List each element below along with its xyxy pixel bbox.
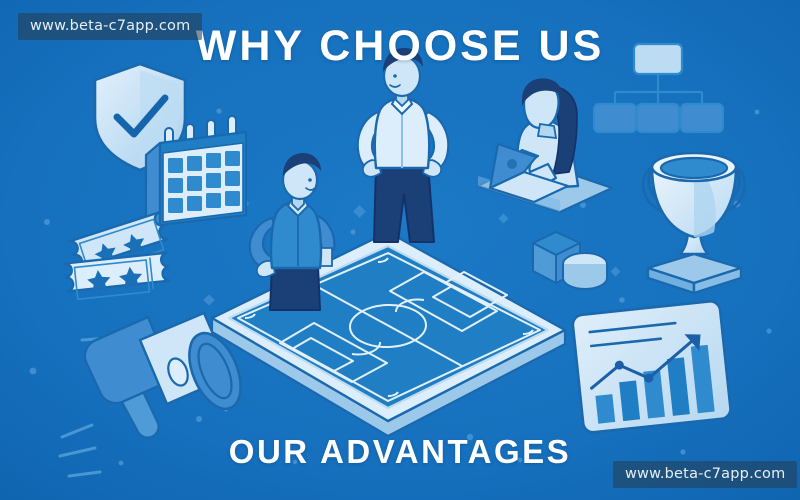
box-and-puck-icon: [533, 232, 607, 289]
trophy-icon: [643, 153, 745, 293]
poster-canvas: WHY CHOOSE US OUR ADVANTAGES www.beta-c7…: [0, 0, 800, 500]
woman-laptop-figure: [478, 78, 612, 212]
watermark-top-left: www.beta-c7app.com: [18, 13, 202, 40]
tickets-icon: [64, 212, 171, 300]
watermark-bottom-right: www.beta-c7app.com: [613, 461, 797, 488]
growth-chart-icon: [572, 300, 732, 433]
man-white-shirt-figure: [358, 48, 449, 242]
illustration-layer: [0, 0, 800, 500]
